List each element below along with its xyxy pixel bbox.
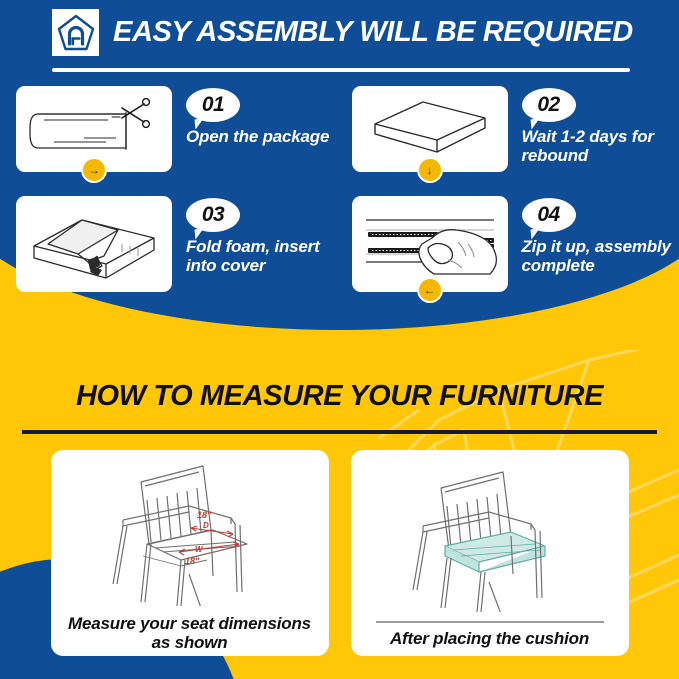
assembly-steps: → 01 Open the package <box>0 86 679 292</box>
measure-cards: 18" D W 18" Measure your seat dimensions… <box>0 450 679 656</box>
step-01-image-card: → <box>16 86 172 172</box>
measure-card-divider <box>376 621 604 623</box>
step-row-2: 03 Fold foam, insert into cover <box>0 196 679 292</box>
step-04-text: 04 Zip it up, assembly complete <box>508 196 679 275</box>
hand-zipping-zipper-icon <box>362 204 498 284</box>
depth-value-label: 18" <box>197 510 212 520</box>
step-04-number: 04 <box>537 203 559 227</box>
step-03-image-card <box>16 196 172 292</box>
flat-foam-cushion-icon <box>365 96 495 162</box>
step-02-number: 02 <box>537 93 559 117</box>
depth-letter-label: D <box>203 521 209 530</box>
step-02-image-card: ↓ <box>352 86 508 172</box>
step-01: → 01 Open the package <box>0 86 340 172</box>
arrow-left-badge: ← <box>417 277 443 303</box>
width-letter-label: W <box>195 545 204 554</box>
page-title: EASY ASSEMBLY WILL BE REQUIRED <box>113 18 633 47</box>
step-03-number: 03 <box>202 203 224 227</box>
step-03-label: Fold foam, insert into cover <box>186 237 340 275</box>
step-04-image-card: ← <box>352 196 508 292</box>
width-value-label: 18" <box>185 556 200 566</box>
step-01-number: 01 <box>202 93 224 117</box>
fold-foam-into-cover-icon <box>26 204 162 284</box>
measure-card-dimensions-art: 18" D W 18" <box>61 456 319 606</box>
step-03: 03 Fold foam, insert into cover <box>0 196 340 292</box>
chair-with-cushion-icon <box>385 462 595 612</box>
measure-card-cushion: After placing the cushion <box>351 450 629 656</box>
arrow-down-badge: ↓ <box>417 157 443 183</box>
infographic-root: EASY ASSEMBLY WILL BE REQUIRED <box>0 0 679 679</box>
measure-card-cushion-caption: After placing the cushion <box>390 629 589 648</box>
measure-card-cushion-art <box>361 456 619 619</box>
measure-card-dimensions-caption: Measure your seat dimensions as shown <box>61 614 319 653</box>
step-01-number-bubble: 01 <box>186 88 240 122</box>
house-pentagon-icon <box>52 9 99 56</box>
step-04-number-bubble: 04 <box>522 198 576 232</box>
step-02-number-bubble: 02 <box>522 88 576 122</box>
step-04-label: Zip it up, assembly complete <box>522 237 679 275</box>
chair-with-dimensions-icon: 18" D W 18" <box>85 456 295 606</box>
step-01-label: Open the package <box>186 127 329 146</box>
header-divider <box>52 68 630 72</box>
step-02-label: Wait 1-2 days for rebound <box>522 127 679 165</box>
measure-divider <box>22 430 657 434</box>
step-04: ← 04 Zip it up, assembly complete <box>340 196 679 292</box>
step-row-1: → 01 Open the package <box>0 86 679 172</box>
step-03-number-bubble: 03 <box>186 198 240 232</box>
measure-section-title: HOW TO MEASURE YOUR FURNITURE <box>0 380 679 413</box>
header: EASY ASSEMBLY WILL BE REQUIRED <box>0 0 679 78</box>
arrow-right-badge: → <box>81 157 107 183</box>
rolled-package-with-scissors-icon <box>26 96 162 162</box>
step-03-text: 03 Fold foam, insert into cover <box>172 196 340 275</box>
measure-card-dimensions: 18" D W 18" Measure your seat dimensions… <box>51 450 329 656</box>
step-01-text: 01 Open the package <box>172 86 329 146</box>
step-02: ↓ 02 Wait 1-2 days for rebound <box>340 86 679 172</box>
step-02-text: 02 Wait 1-2 days for rebound <box>508 86 679 165</box>
